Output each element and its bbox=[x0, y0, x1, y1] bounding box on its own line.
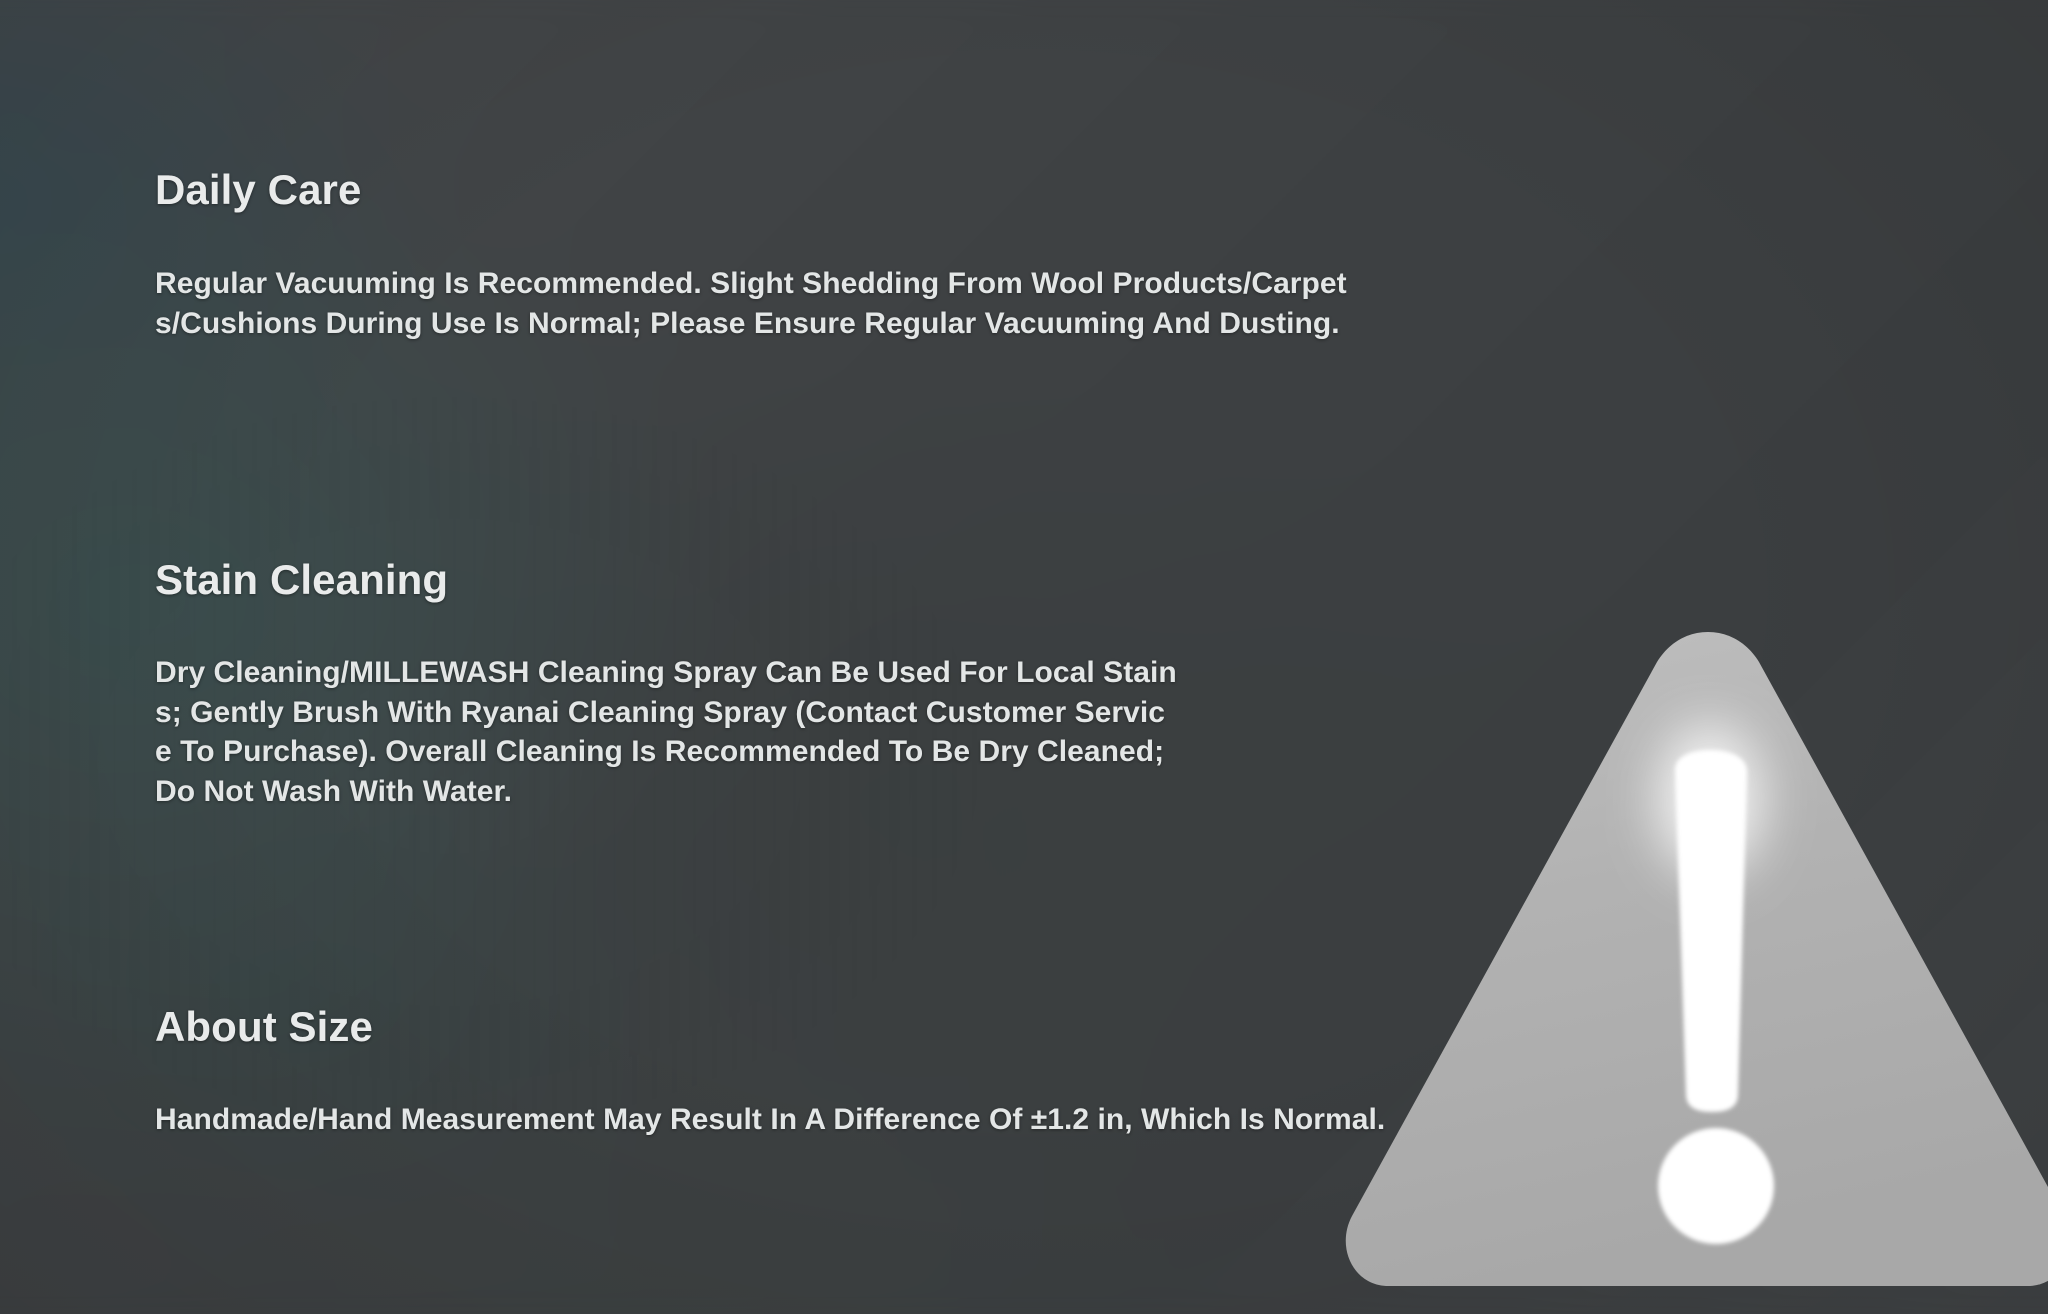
section-body-daily-care: Regular Vacuuming Is Recommended. Slight… bbox=[155, 264, 1347, 343]
section-about-size: About Size Handmade/Hand Measurement May… bbox=[155, 1005, 1385, 1140]
spacer bbox=[155, 602, 1177, 653]
section-heading-about-size: About Size bbox=[155, 1005, 1385, 1049]
spacer bbox=[155, 212, 1347, 264]
section-daily-care: Daily Care Regular Vacuuming Is Recommen… bbox=[155, 168, 1347, 343]
spacer bbox=[155, 1049, 1385, 1100]
section-body-about-size: Handmade/Hand Measurement May Result In … bbox=[155, 1100, 1385, 1140]
section-stain-cleaning: Stain Cleaning Dry Cleaning/MILLEWASH Cl… bbox=[155, 558, 1177, 811]
section-body-stain-cleaning: Dry Cleaning/MILLEWASH Cleaning Spray Ca… bbox=[155, 653, 1177, 811]
section-heading-daily-care: Daily Care bbox=[155, 168, 1347, 212]
section-heading-stain-cleaning: Stain Cleaning bbox=[155, 558, 1177, 602]
product-care-info-screen: Daily Care Regular Vacuuming Is Recommen… bbox=[0, 0, 2048, 1314]
